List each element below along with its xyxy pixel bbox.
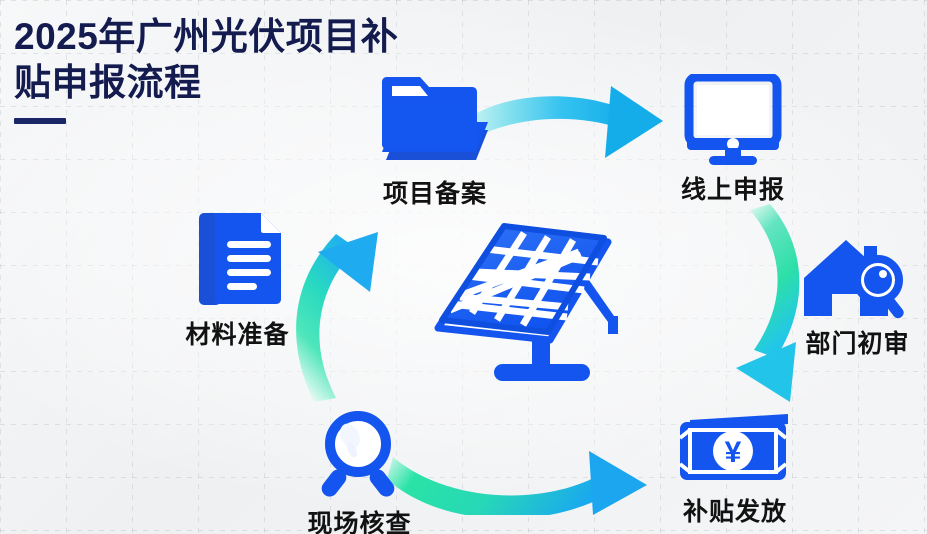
page-title-line1: 2025年广州光伏项目补 [14, 14, 514, 60]
step-inspection-label: 现场核查 [307, 504, 411, 534]
monitor-icon [683, 74, 783, 166]
infographic-canvas: 2025年广州光伏项目补 贴申报流程 [0, 0, 927, 534]
solar-panel-icon [432, 212, 652, 397]
yuan-symbol: ¥ [725, 436, 742, 469]
document-lines-icon [185, 207, 291, 311]
house-magnifier-icon [802, 238, 914, 320]
step-filing-label: 项目备案 [383, 174, 487, 210]
magnifier-icon [308, 410, 412, 500]
step-review-label: 部门初审 [805, 324, 909, 360]
step-review[interactable]: 部门初审 [770, 238, 927, 360]
step-online[interactable]: 线上申报 [638, 74, 828, 206]
step-materials[interactable]: 材料准备 [140, 207, 335, 351]
title-underline-rule [14, 118, 66, 124]
step-online-label: 线上申报 [681, 170, 785, 206]
step-materials-label: 材料准备 [185, 315, 289, 351]
banknote-yuan-icon: ¥ [676, 412, 794, 488]
page-title-line2: 贴申报流程 [14, 60, 514, 106]
page-title: 2025年广州光伏项目补 贴申报流程 [14, 14, 514, 124]
step-inspection[interactable]: 现场核查 [262, 410, 457, 534]
step-payout[interactable]: ¥ 补贴发放 [640, 412, 830, 528]
step-payout-label: 补贴发放 [683, 492, 787, 528]
